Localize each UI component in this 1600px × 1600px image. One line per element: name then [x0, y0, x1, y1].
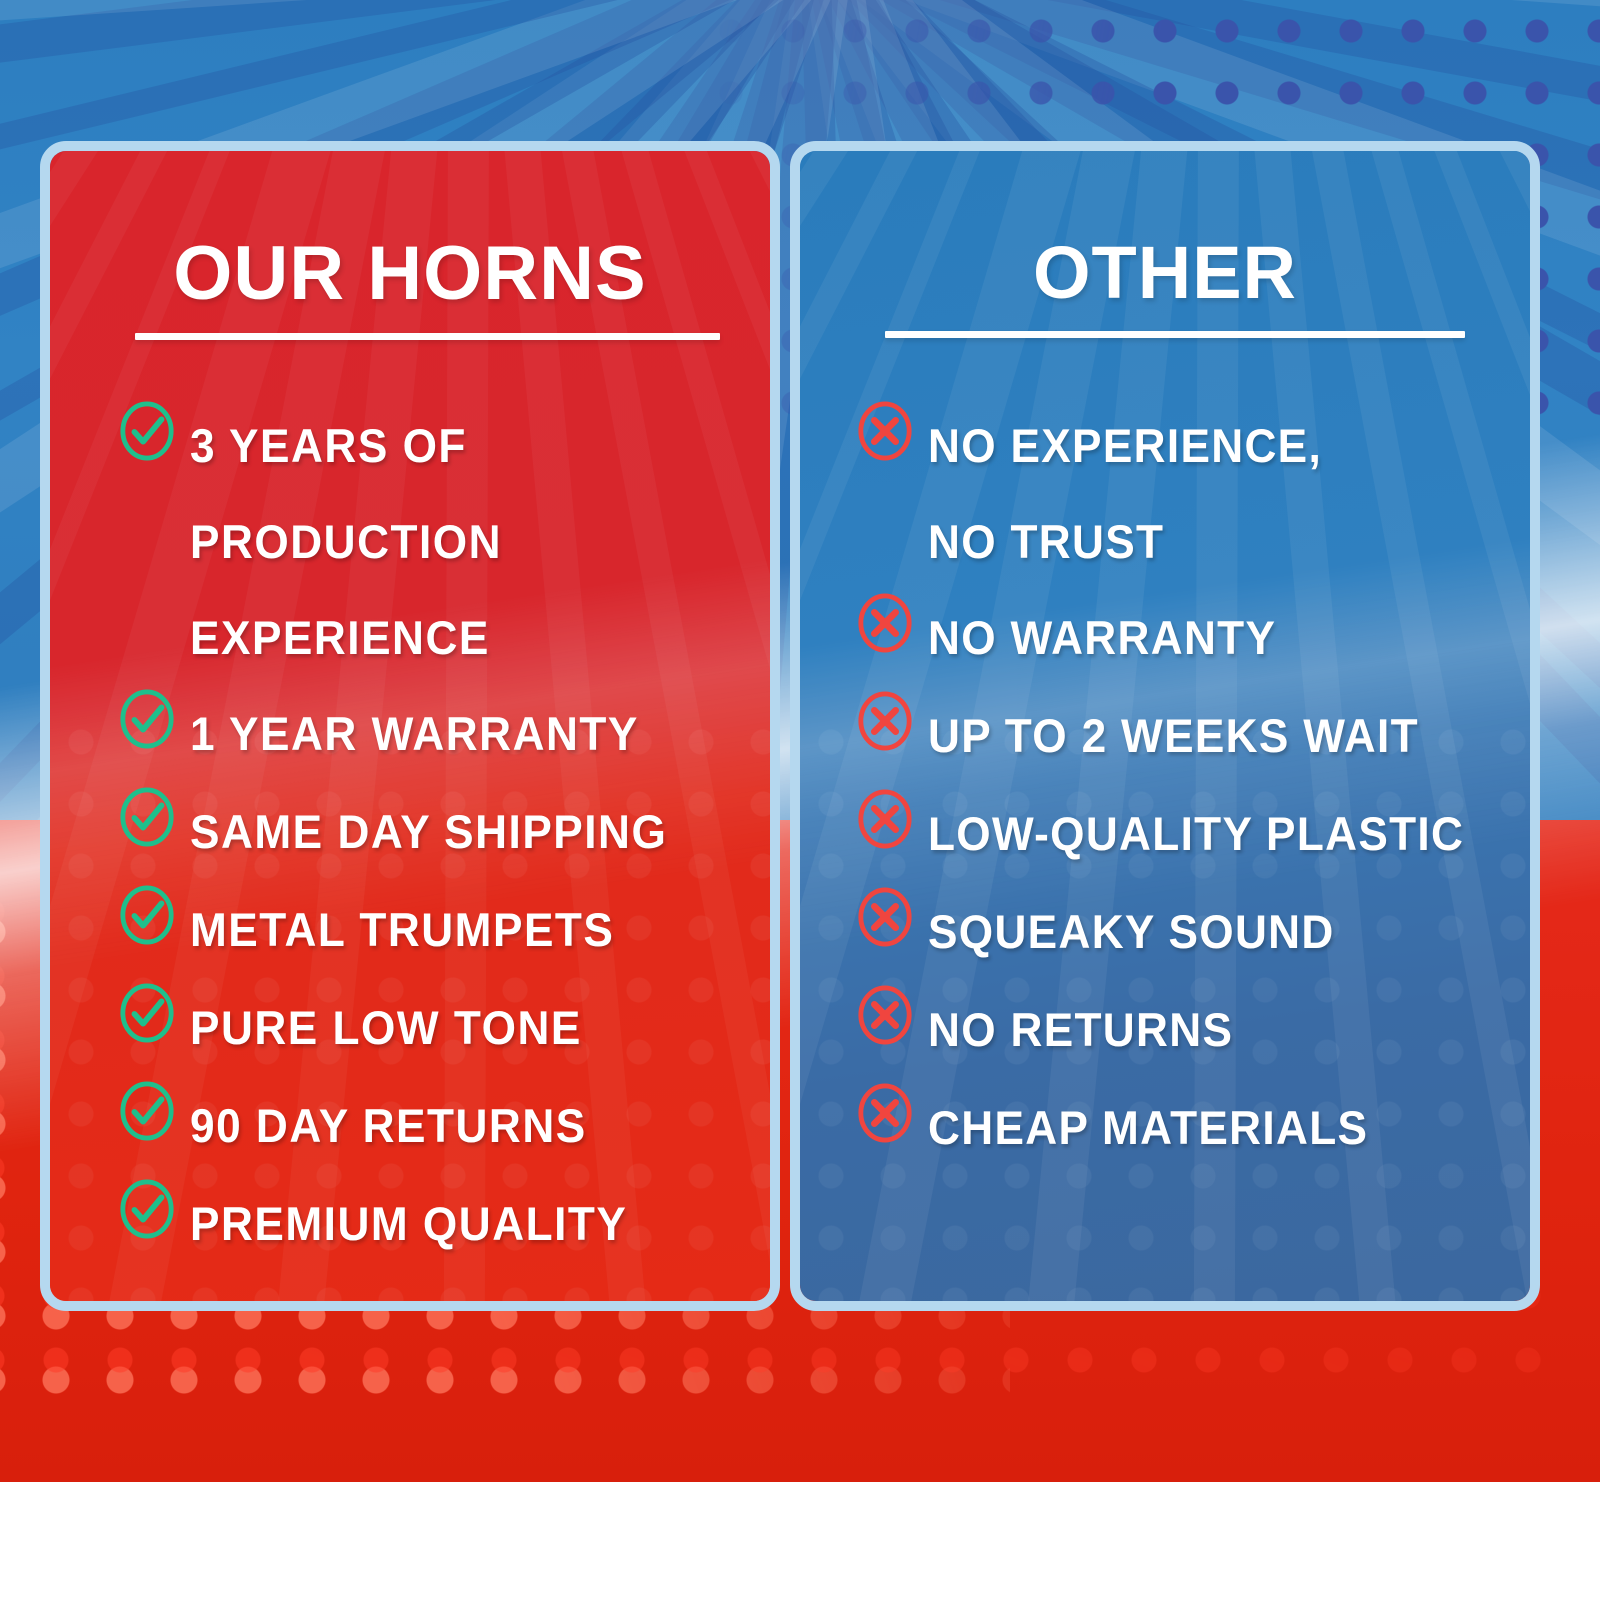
- card-content-other: OTHER NO EXPERIENCE, NO TRUSTNO WARRANTY…: [800, 151, 1530, 1301]
- list-item-label: SQUEAKY SOUND: [928, 884, 1335, 980]
- check-circle-icon: [118, 688, 176, 750]
- feature-list-our-horns: 3 YEARS OF PRODUCTION EXPERIENCE1 YEAR W…: [50, 398, 770, 1274]
- list-item-label: CHEAP MATERIALS: [928, 1080, 1368, 1176]
- check-circle-icon: [118, 884, 176, 946]
- cross-circle-icon: [856, 690, 914, 752]
- card-other-surface: OTHER NO EXPERIENCE, NO TRUSTNO WARRANTY…: [800, 151, 1530, 1301]
- cross-circle-icon: [856, 788, 914, 850]
- comparison-cards: OUR HORNS 3 YEARS OF PRODUCTION EXPERIEN…: [0, 0, 1600, 1600]
- cross-circle-icon: [856, 400, 914, 462]
- list-item-label: UP TO 2 WEEKS WAIT: [928, 688, 1419, 784]
- list-item-label: NO EXPERIENCE, NO TRUST: [928, 398, 1322, 590]
- list-item-label: PREMIUM QUALITY: [190, 1176, 627, 1272]
- list-item: SQUEAKY SOUND: [820, 884, 1530, 982]
- cross-circle-icon: [856, 592, 914, 654]
- list-item: NO EXPERIENCE, NO TRUST: [820, 398, 1530, 590]
- list-item-label: PURE LOW TONE: [190, 980, 582, 1076]
- card-content-ours: OUR HORNS 3 YEARS OF PRODUCTION EXPERIEN…: [50, 151, 770, 1301]
- list-item-label: NO RETURNS: [928, 982, 1233, 1078]
- cross-circle-icon: [856, 886, 914, 948]
- list-item-label: SAME DAY SHIPPING: [190, 784, 667, 880]
- list-item: METAL TRUMPETS: [82, 882, 770, 980]
- check-circle-icon: [118, 400, 176, 462]
- title-divider-other: [885, 331, 1465, 338]
- list-item: CHEAP MATERIALS: [820, 1080, 1530, 1178]
- list-item: 90 DAY RETURNS: [82, 1078, 770, 1176]
- list-item: NO WARRANTY: [820, 590, 1530, 688]
- list-item: UP TO 2 WEEKS WAIT: [820, 688, 1530, 786]
- list-item-label: LOW-QUALITY PLASTIC: [928, 786, 1464, 882]
- list-item-label: METAL TRUMPETS: [190, 882, 614, 978]
- check-circle-icon: [118, 1080, 176, 1142]
- list-item: PURE LOW TONE: [82, 980, 770, 1078]
- list-item: 1 YEAR WARRANTY: [82, 686, 770, 784]
- title-divider-ours: [135, 333, 720, 340]
- cross-circle-icon: [856, 1082, 914, 1144]
- list-item-label: 90 DAY RETURNS: [190, 1078, 587, 1174]
- cross-circle-icon: [856, 984, 914, 1046]
- check-circle-icon: [118, 1178, 176, 1240]
- list-item-label: NO WARRANTY: [928, 590, 1276, 686]
- card-our-horns-surface: OUR HORNS 3 YEARS OF PRODUCTION EXPERIEN…: [50, 151, 770, 1301]
- list-item: 3 YEARS OF PRODUCTION EXPERIENCE: [82, 398, 770, 686]
- check-circle-icon: [118, 982, 176, 1044]
- check-circle-icon: [118, 786, 176, 848]
- feature-list-other: NO EXPERIENCE, NO TRUSTNO WARRANTYUP TO …: [800, 398, 1530, 1178]
- list-item: NO RETURNS: [820, 982, 1530, 1080]
- list-item-label: 3 YEARS OF PRODUCTION EXPERIENCE: [190, 398, 735, 686]
- comparison-infographic: OUR HORNS 3 YEARS OF PRODUCTION EXPERIEN…: [0, 0, 1600, 1600]
- list-item: LOW-QUALITY PLASTIC: [820, 786, 1530, 884]
- list-item: PREMIUM QUALITY: [82, 1176, 770, 1274]
- card-our-horns: OUR HORNS 3 YEARS OF PRODUCTION EXPERIEN…: [40, 141, 780, 1311]
- card-title-our-horns: OUR HORNS: [50, 236, 770, 312]
- list-item-label: 1 YEAR WARRANTY: [190, 686, 639, 782]
- card-other: OTHER NO EXPERIENCE, NO TRUSTNO WARRANTY…: [790, 141, 1540, 1311]
- card-title-other: OTHER: [800, 236, 1530, 310]
- list-item: SAME DAY SHIPPING: [82, 784, 770, 882]
